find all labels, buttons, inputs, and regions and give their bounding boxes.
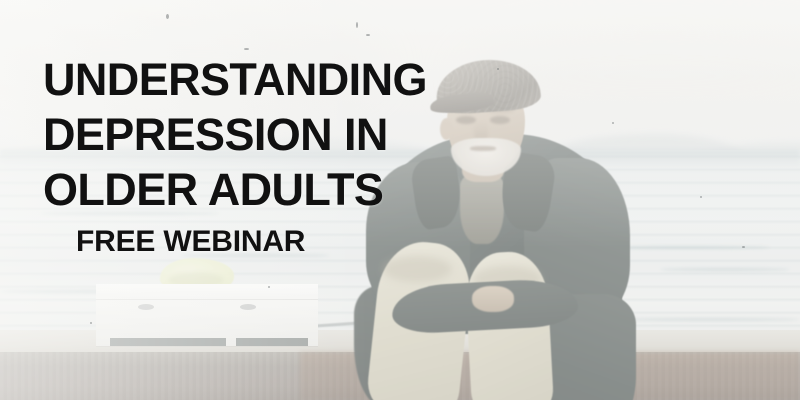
shirt-chest	[460, 174, 504, 244]
webinar-promo-banner: UNDERSTANDING DEPRESSION IN OLDER ADULTS…	[0, 0, 800, 400]
box-handle-notch	[138, 304, 154, 310]
box-shadow-foot	[110, 338, 226, 346]
headline-line-1: UNDERSTANDING	[43, 52, 463, 107]
box-handle-notch	[240, 304, 256, 310]
subheadline: FREE WEBINAR	[76, 225, 463, 259]
headline-block: UNDERSTANDING DEPRESSION IN OLDER ADULTS…	[43, 52, 463, 259]
headline-line-2: DEPRESSION IN	[43, 107, 463, 162]
ripple-streak	[660, 268, 790, 271]
mouth	[470, 146, 496, 151]
styrofoam-box	[96, 284, 318, 346]
eye-right	[490, 116, 510, 124]
box-lid	[96, 284, 318, 300]
box-shadow-foot	[236, 338, 308, 346]
knee-shading	[382, 256, 452, 282]
headline-line-3: OLDER ADULTS	[43, 162, 463, 217]
hand	[472, 286, 514, 312]
